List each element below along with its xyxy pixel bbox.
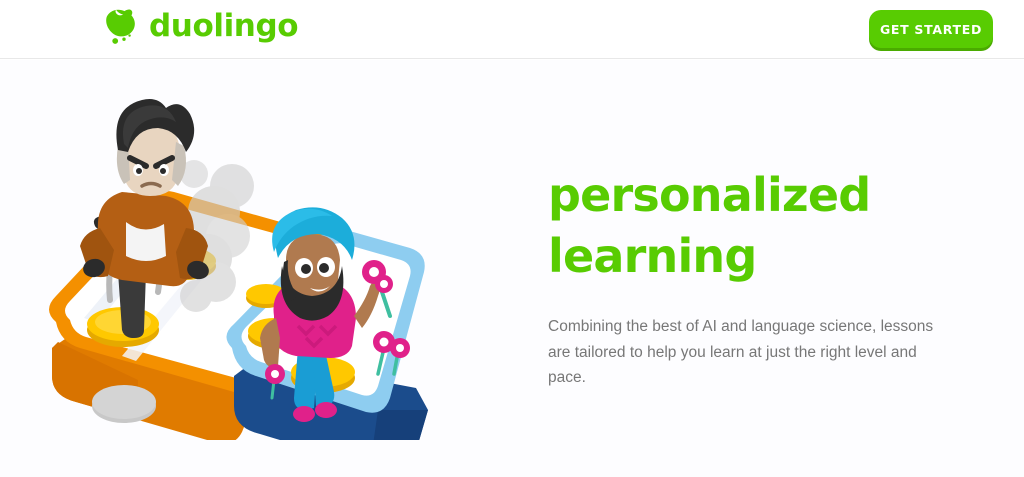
hero-section: personalized learning Combining the best… (0, 60, 1024, 477)
hero-subtitle: Combining the best of AI and language sc… (548, 314, 938, 389)
motorcycle-rider-character (80, 99, 211, 286)
duolingo-landing-page: duolingo GET STARTED (0, 0, 1024, 477)
hero-copy-block: personalized learning Combining the best… (548, 165, 948, 390)
brand-wordmark: duolingo (149, 11, 298, 45)
site-header: duolingo GET STARTED (0, 0, 1024, 59)
get-started-button[interactable]: GET STARTED (869, 10, 993, 48)
two-learning-paths-illustration (18, 80, 438, 440)
hero-title: personalized learning (548, 165, 878, 286)
brand-logo-link[interactable]: duolingo (100, 8, 298, 48)
duolingo-owl-icon (100, 8, 142, 48)
